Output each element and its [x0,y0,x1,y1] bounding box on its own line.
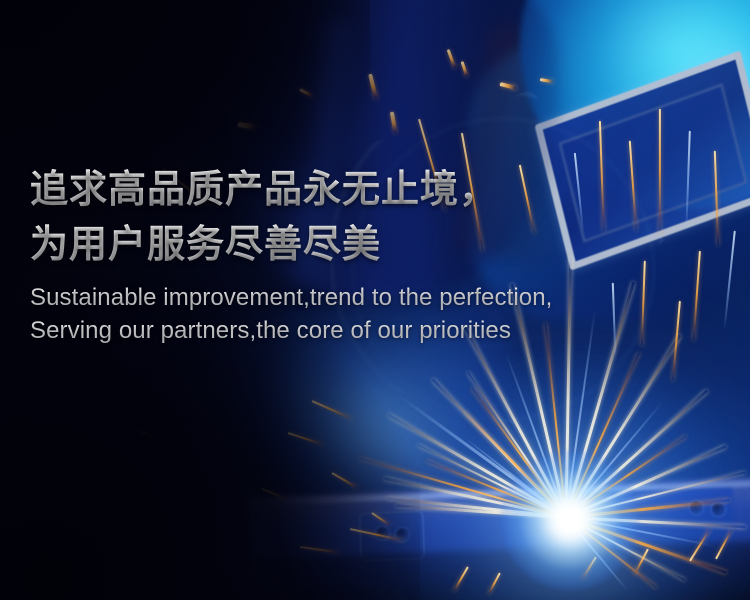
headline-zh-line-1: 追求高品质产品永无止境， [30,162,720,217]
arc-spark [544,323,567,517]
weld-smoke [280,330,540,500]
arc-spark [399,396,566,519]
helmet-dome-glow [560,0,750,160]
welding-banner: 追求高品质产品永无止境， 为用户服务尽善尽美 Sustainable impro… [0,0,750,600]
headline-zh-line-2: 为用户服务尽善尽美 [30,217,720,272]
arc-spark [505,352,567,517]
bolt-hole-icon [712,503,725,516]
stray-spark [581,556,596,579]
arc-spark [566,499,730,519]
bolt-hole-icon [376,527,389,540]
headline-en-line-2: Serving our partners,the core of our pri… [30,314,720,347]
stray-spark [461,61,469,77]
arc-spark [566,471,746,518]
arc-spark [565,352,640,517]
arc-spark [471,387,567,518]
arc-spark [566,516,746,528]
arc-spark [396,504,566,519]
stray-spark [332,472,359,489]
arc-spark [464,327,567,518]
stray-spark [500,82,517,90]
arc-spark [565,389,708,518]
arc-spark [565,516,685,581]
stray-spark [300,546,340,553]
arc-spark [565,435,686,518]
bolt-hole-icon [396,528,409,541]
stray-spark [288,432,325,445]
stray-spark [372,512,391,526]
arc-halo [420,370,740,600]
arc-spark [465,412,567,518]
arc-spark [566,516,714,547]
arc-spark [427,460,567,518]
stray-spark [488,572,501,594]
stray-spark [238,122,256,129]
arc-spark [417,444,566,518]
arc-spark [566,516,728,574]
stray-spark [715,529,733,560]
bolt-hole-icon [690,501,703,514]
arc-spark [467,371,567,517]
arc-spark [359,457,566,519]
welder-sleeve-highlight [242,333,498,528]
stray-spark [447,49,457,69]
table-shadow [199,540,750,600]
stray-spark [350,528,404,541]
arc-spark [565,334,681,518]
workpiece-edge-highlight [245,480,750,506]
subheadline-block: Sustainable improvement,trend to the per… [30,281,720,347]
stray-spark [140,430,157,439]
stray-spark [312,400,354,420]
stray-spark [540,78,554,84]
stray-spark [633,549,649,576]
stray-spark [689,528,711,561]
metal-bracket [603,488,735,562]
headline-en-line-1: Sustainable improvement,trend to the per… [30,281,720,314]
arc-spark [565,445,726,519]
metal-plate [359,511,425,561]
workpiece-bar [248,477,750,592]
arc-spark [565,516,627,590]
stray-spark [390,111,397,133]
stray-spark [453,566,469,591]
arc-flash-core [500,450,640,590]
arc-spark [384,477,566,518]
arc-spark [565,401,663,517]
weld-smoke [300,400,500,520]
stray-spark [368,74,378,100]
arc-spark [463,436,567,518]
stray-spark [299,88,313,97]
arc-spark [432,378,568,518]
stray-spark [262,488,287,499]
arc-spark [565,516,657,588]
headline-block: 追求高品质产品永无止境， 为用户服务尽善尽美 Sustainable impro… [30,162,720,347]
arc-spark [387,497,566,518]
arc-spark [388,414,567,519]
stray-spark [724,231,736,331]
